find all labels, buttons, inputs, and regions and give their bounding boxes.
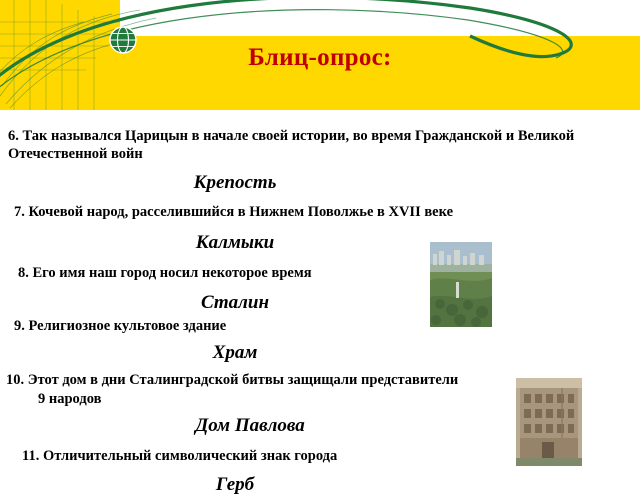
answer-6: Крепость [90,172,380,194]
answer-7: Калмыки [90,232,380,254]
page-title: Блиц-опрос: [0,44,640,72]
answer-9: Храм [90,342,380,364]
header-banner: Блиц-опрос: [0,0,640,110]
photo-city-panorama [430,242,492,327]
question-10: 10. Этот дом в дни Сталинградской битвы … [6,372,566,390]
answer-8: Сталин [90,292,380,314]
quiz-content: 6. Так назывался Царицын в начале своей … [0,110,640,480]
photo-pavlov-house [516,378,582,466]
answer-11: Герб [90,474,380,496]
answer-10: Дом Павлова [90,415,410,437]
question-7: 7. Кочевой народ, расселившийся в Нижнем… [14,204,614,222]
question-6: 6. Так назывался Царицын в начале своей … [8,128,636,163]
question-10-line2: 9 народов [38,391,338,409]
question-11: 11. Отличительный символический знак гор… [22,448,562,466]
